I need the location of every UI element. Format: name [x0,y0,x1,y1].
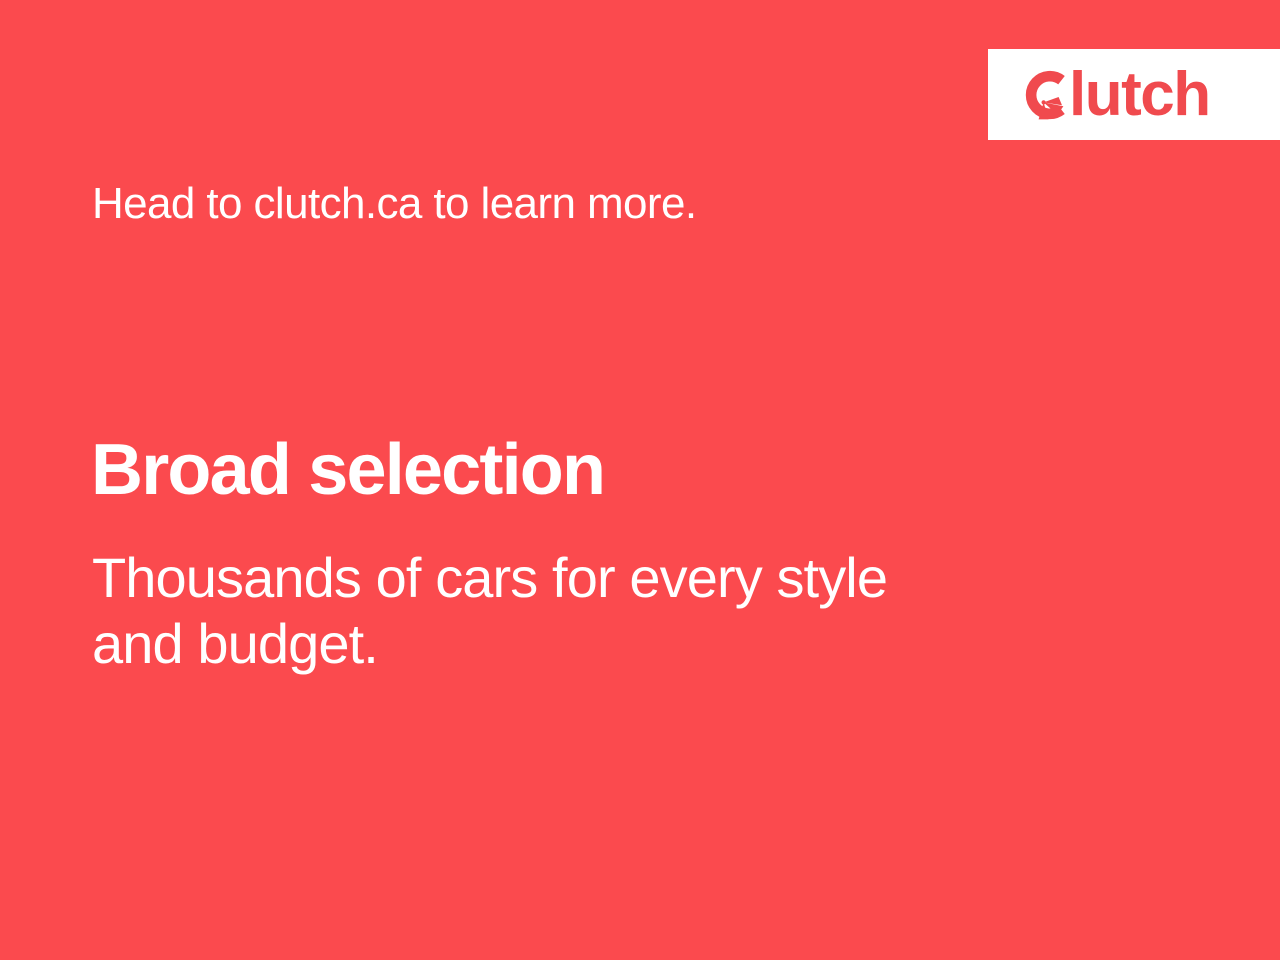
subheadline-line-2: and budget. [92,611,1052,677]
clutch-wordmark: lutch [1069,68,1210,122]
subheadline-line-1: Thousands of cars for every style [92,545,1052,611]
clutch-logo-lockup: lutch [1020,68,1210,122]
clutch-steering-wheel-mark [1020,68,1068,122]
clutch-logo-plate: lutch [988,49,1280,140]
subheadline: Thousands of cars for every style and bu… [92,545,1052,677]
eyebrow-text: Head to clutch.ca to learn more. [92,180,696,228]
headline: Broad selection [91,434,604,506]
promo-slide: lutch Head to clutch.ca to learn more. B… [0,0,1280,960]
